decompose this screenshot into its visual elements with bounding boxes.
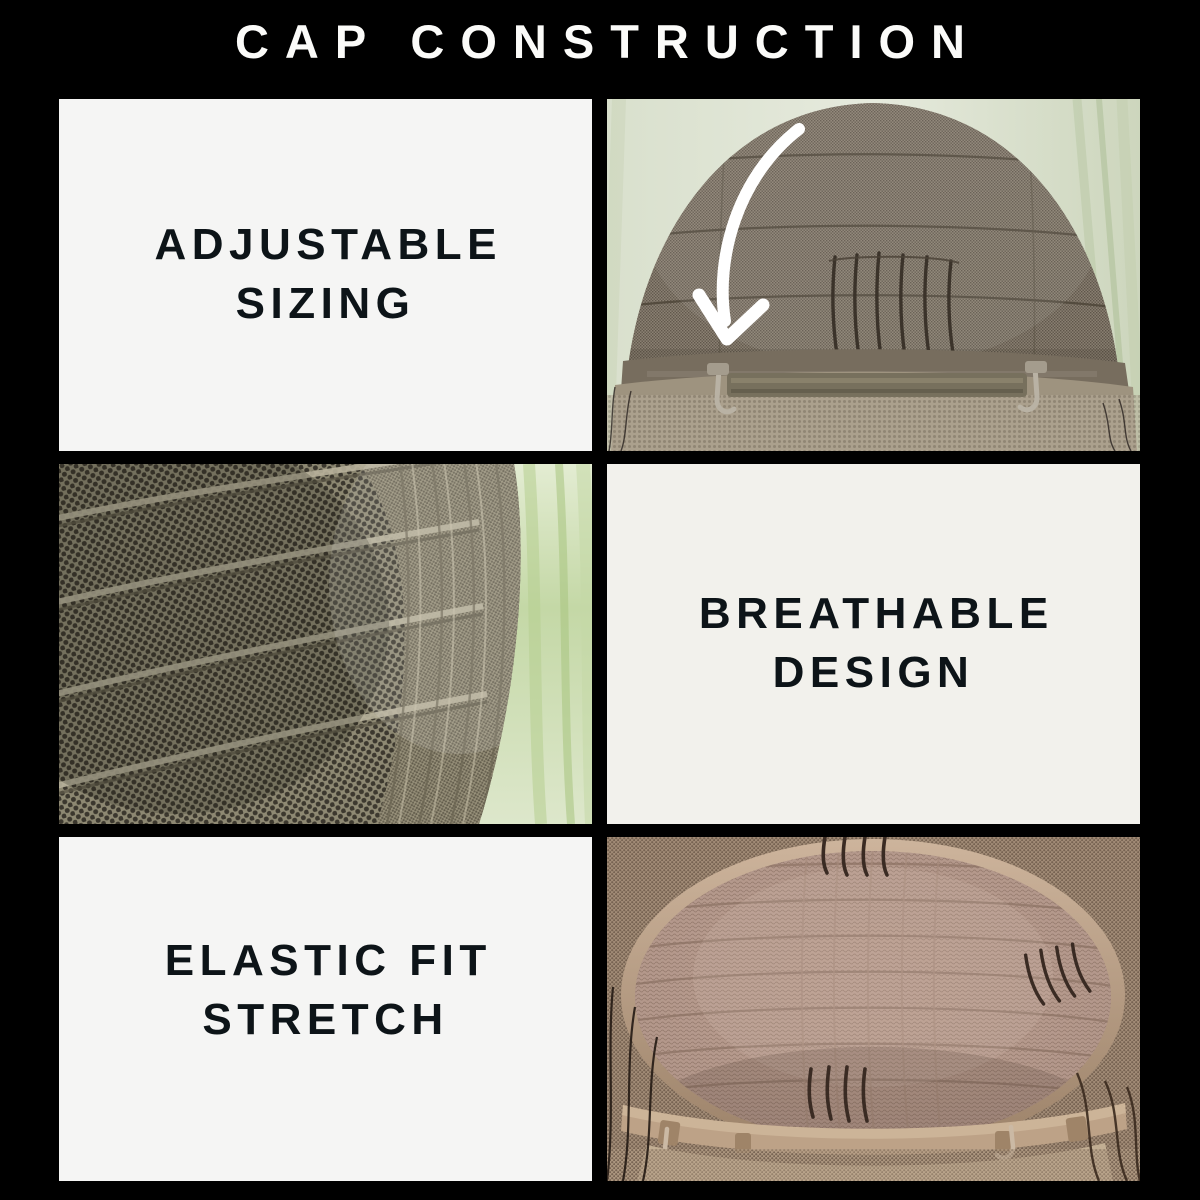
feature-card-adjustable-sizing: ADJUSTABLE SIZING [59,99,592,451]
wig-cap-back-image [607,99,1140,451]
breathable-mesh-image [59,464,592,824]
page-title: CAP CONSTRUCTION [0,18,1200,65]
feature-grid: ADJUSTABLE SIZING [59,99,1140,1182]
photo-wig-cap-interior [607,837,1140,1181]
wig-cap-interior-image [607,837,1140,1181]
feature-label-breathable-design: BREATHABLE DESIGN [647,585,1100,702]
feature-label-elastic-fit-stretch: ELASTIC FIT STRETCH [99,932,552,1049]
photo-breathable-mesh-closeup [59,464,592,824]
photo-wig-cap-back-adjustable-straps [607,99,1140,451]
cap-construction-infographic: CAP CONSTRUCTION ADJUSTABLE SIZING [0,0,1200,1200]
feature-card-breathable-design: BREATHABLE DESIGN [607,464,1140,824]
feature-card-elastic-fit-stretch: ELASTIC FIT STRETCH [59,837,592,1181]
feature-label-adjustable-sizing: ADJUSTABLE SIZING [99,216,552,333]
